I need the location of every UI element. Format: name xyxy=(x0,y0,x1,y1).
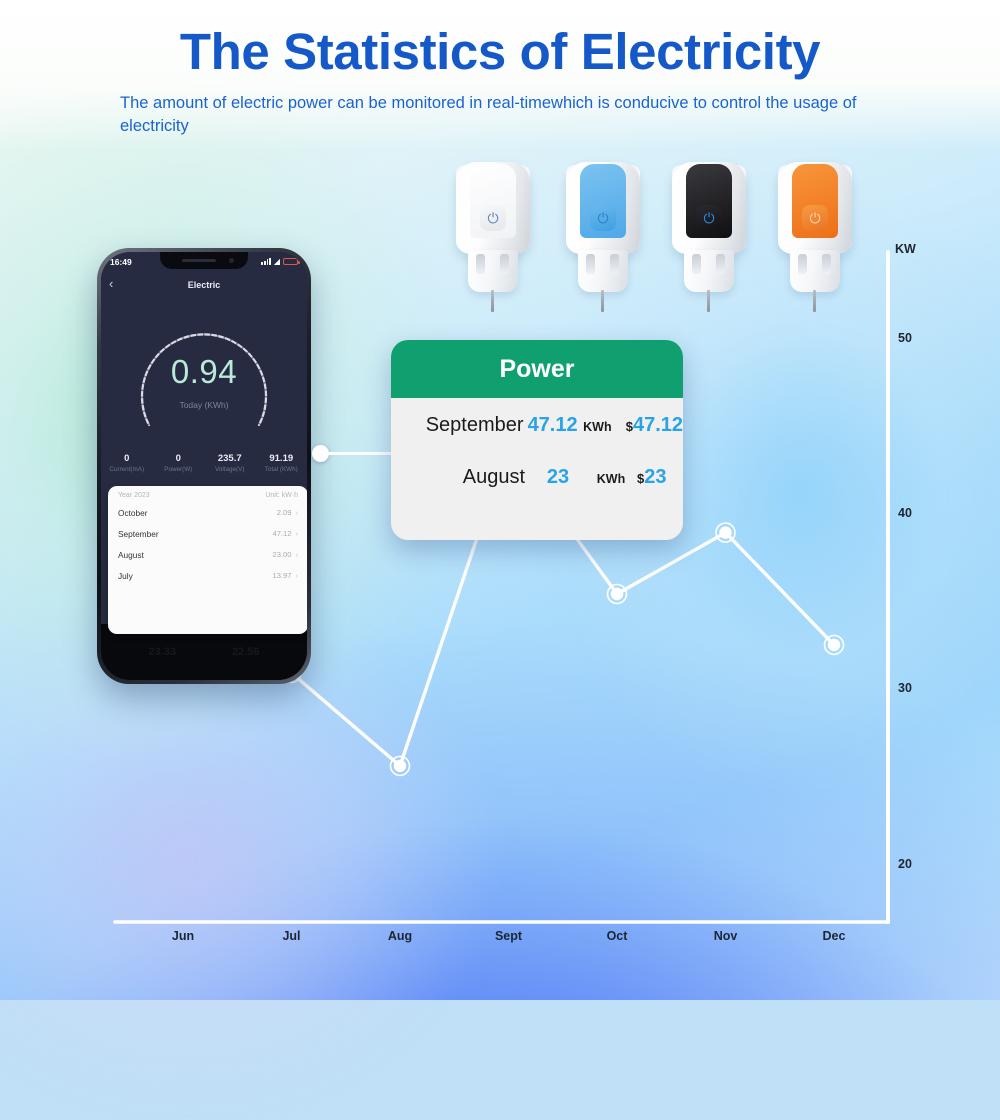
stat-label: Current(mA) xyxy=(101,465,153,475)
power-callout-card: Power September 47.12 KWh $ 47.12 August… xyxy=(391,340,683,540)
power-icon: ⏻ xyxy=(590,205,616,231)
stat-label: Voltage(V) xyxy=(204,465,256,475)
stat-label: Power(W) xyxy=(153,465,205,475)
plug-socket-slot-right xyxy=(822,254,831,274)
stat-voltage: 235.7 Voltage(V) xyxy=(204,452,256,484)
blue-smart-plug: ⏻ xyxy=(560,162,646,310)
chart-point-aug[interactable] xyxy=(394,760,406,772)
status-icons: ◢ xyxy=(261,258,298,266)
plug-socket-slot-left xyxy=(798,254,807,274)
y-axis-unit-label: KW xyxy=(895,242,916,256)
power-row-unit: KWh xyxy=(591,472,631,486)
phone-stats-row: 0 Current(mA) 0 Power(W) 235.7 Voltage(V… xyxy=(101,452,307,484)
y-tick-50: 50 xyxy=(898,331,912,345)
stat-value: 235.7 xyxy=(204,452,256,465)
plug-socket-slot-right xyxy=(610,254,619,274)
phone-screen: 16:49 ◢ ‹ Electric 0.94 Today (KWh) xyxy=(101,252,307,680)
power-card-header: Power xyxy=(391,340,683,398)
monthly-usage-header: Year 2023 Unit: kW·h xyxy=(108,486,307,502)
month-name: September xyxy=(118,529,159,539)
month-value: 23.00 xyxy=(272,550,291,559)
month-name: August xyxy=(118,550,144,560)
black-smart-plug: ⏻ xyxy=(666,162,752,310)
x-tick-jul: Jul xyxy=(282,929,300,943)
chart-point-oct[interactable] xyxy=(611,588,623,600)
stat-total: 91.19 Total (KWh) xyxy=(256,452,308,484)
monthly-usage-year: Year 2023 xyxy=(118,492,150,499)
app-nav-title: Electric xyxy=(188,280,221,290)
plug-socket-slot-left xyxy=(476,254,485,274)
header: The Statistics of Electricity The amount… xyxy=(0,0,1000,138)
list-item[interactable]: September 47.12 › xyxy=(108,523,307,544)
page-subtitle: The amount of electric power can be moni… xyxy=(0,81,1000,138)
chevron-right-icon: › xyxy=(296,529,299,538)
plug-socket-slot-right xyxy=(716,254,725,274)
power-icon: ⏻ xyxy=(480,205,506,231)
stat-value: 0 xyxy=(153,452,205,465)
power-row-price: 47.12 xyxy=(633,414,683,437)
monthly-usage-unit: Unit: kW·h xyxy=(265,492,298,499)
chevron-left-icon[interactable]: ‹ xyxy=(109,277,113,290)
power-row-kwh: 23 xyxy=(525,466,591,489)
power-card-title: Power xyxy=(499,355,574,384)
x-tick-nov: Nov xyxy=(714,929,738,943)
y-tick-20: 20 xyxy=(898,857,912,871)
stat-label: Total (KWh) xyxy=(256,465,308,475)
gauge-label: Today (KWh) xyxy=(101,400,307,410)
plug-socket-slot-right xyxy=(500,254,509,274)
smartphone-mockup: 16:49 ◢ ‹ Electric 0.94 Today (KWh) xyxy=(97,248,311,684)
monthly-usage-card: Year 2023 Unit: kW·h October 2.09 › Sept… xyxy=(108,486,307,634)
chevron-right-icon: › xyxy=(296,550,299,559)
smart-plug-gallery: ⏻ ⏻ ⏻ ⏻ xyxy=(450,162,870,312)
plug-earth-pin xyxy=(601,290,604,312)
page-title: The Statistics of Electricity xyxy=(0,0,1000,81)
gauge-value: 0.94 xyxy=(101,353,307,391)
stat-power: 0 Power(W) xyxy=(153,452,205,484)
power-row-currency: $ xyxy=(616,419,633,434)
x-tick-oct: Oct xyxy=(607,929,628,943)
month-value: 47.12 xyxy=(272,529,291,538)
phone-inner-frame: 16:49 ◢ ‹ Electric 0.94 Today (KWh) xyxy=(101,252,307,680)
power-row-kwh: 47.12 xyxy=(524,414,584,437)
white-smart-plug: ⏻ xyxy=(450,162,536,310)
y-tick-40: 40 xyxy=(898,506,912,520)
bottom-right-value: 22.56 xyxy=(232,646,260,658)
power-icon: ⏻ xyxy=(802,205,828,231)
month-value: 13.97 xyxy=(272,571,291,580)
phone-status-bar: 16:49 ◢ xyxy=(101,252,307,271)
power-row-august: August 23 KWh $ 23 xyxy=(391,462,683,522)
chart-point-dec[interactable] xyxy=(828,639,840,651)
power-row-currency: $ xyxy=(631,471,644,486)
power-row-month: September xyxy=(399,414,524,437)
energy-gauge: 0.94 Today (KWh) xyxy=(101,297,307,452)
x-tick-dec: Dec xyxy=(823,929,846,943)
plug-socket-slot-left xyxy=(692,254,701,274)
power-card-body: September 47.12 KWh $ 47.12 August 23 KW… xyxy=(391,398,683,522)
app-nav-bar: ‹ Electric xyxy=(101,274,307,296)
chevron-right-icon: › xyxy=(296,508,299,517)
x-tick-sept: Sept xyxy=(495,929,522,943)
month-value-group: 2.09 › xyxy=(277,508,298,517)
power-row-price: 23 xyxy=(644,466,666,489)
month-value-group: 13.97 › xyxy=(272,571,298,580)
plug-socket-slot-left xyxy=(586,254,595,274)
list-item[interactable]: July 13.97 › xyxy=(108,565,307,586)
stat-current: 0 Current(mA) xyxy=(101,452,153,484)
list-item[interactable]: August 23.00 › xyxy=(108,544,307,565)
month-name: October xyxy=(118,508,148,518)
chevron-right-icon: › xyxy=(296,571,299,580)
orange-smart-plug: ⏻ xyxy=(772,162,858,310)
plug-earth-pin xyxy=(813,290,816,312)
plug-earth-pin xyxy=(707,290,710,312)
stat-value: 0 xyxy=(101,452,153,465)
power-row-month: August xyxy=(399,466,525,489)
wifi-icon: ◢ xyxy=(274,258,280,266)
month-value-group: 47.12 › xyxy=(272,529,298,538)
list-item[interactable]: October 2.09 › xyxy=(108,502,307,523)
stat-value: 91.19 xyxy=(256,452,308,465)
cellular-signal-icon xyxy=(261,258,270,265)
power-icon: ⏻ xyxy=(696,205,722,231)
plug-earth-pin xyxy=(491,290,494,312)
bottom-left-value: 23.33 xyxy=(148,646,176,658)
month-value-group: 23.00 › xyxy=(272,550,298,559)
x-tick-jun: Jun xyxy=(172,929,194,943)
power-row-september: September 47.12 KWh $ 47.12 xyxy=(391,402,683,462)
battery-icon xyxy=(283,258,298,266)
month-name: July xyxy=(118,571,133,581)
power-row-unit: KWh xyxy=(583,420,616,434)
status-time: 16:49 xyxy=(110,257,132,267)
callout-dot xyxy=(312,445,329,462)
x-tick-aug: Aug xyxy=(388,929,412,943)
chart-point-nov[interactable] xyxy=(719,526,731,538)
month-value: 2.09 xyxy=(277,508,292,517)
y-tick-30: 30 xyxy=(898,681,912,695)
